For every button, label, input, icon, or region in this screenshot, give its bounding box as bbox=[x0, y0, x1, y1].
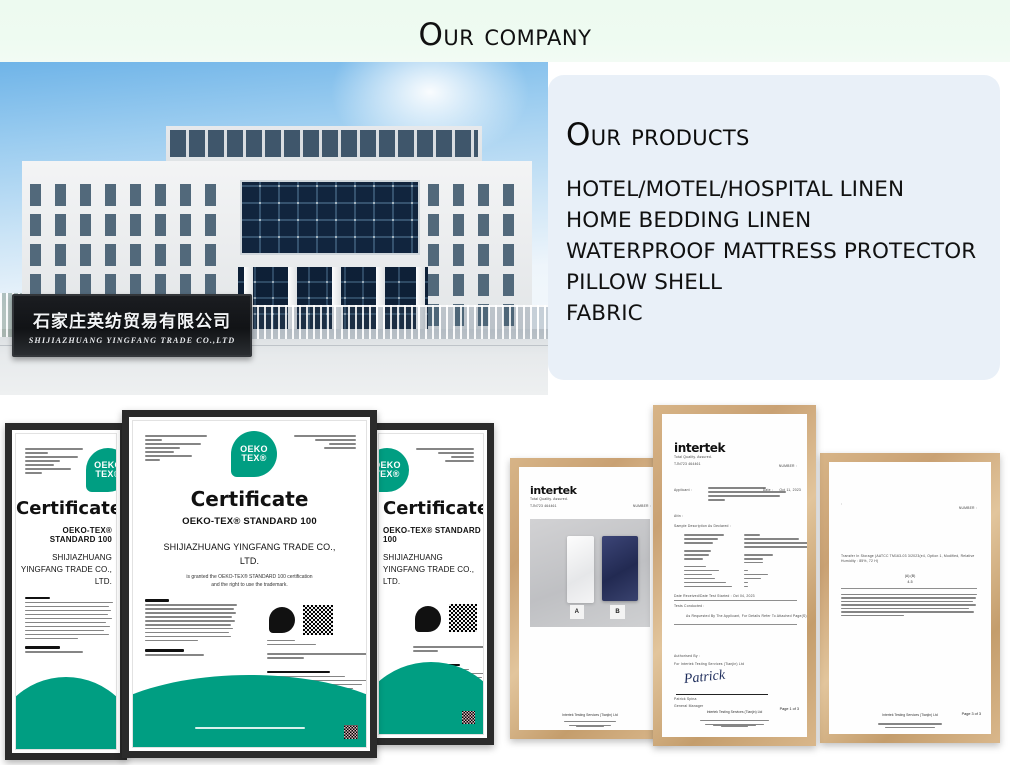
certificate-holder: SHIJIAZHUANG YINGFANG TRADE CO., LTD. bbox=[133, 541, 366, 568]
product-item: FABRIC bbox=[566, 299, 1000, 330]
cert-green-footer bbox=[195, 727, 305, 731]
oeko-tex-logo: OEKO TEX® bbox=[378, 448, 409, 492]
our-products-panel: Our products HOTEL/MOTEL/HOSPITAL LINEN … bbox=[548, 75, 1000, 380]
divider bbox=[841, 588, 977, 589]
intertek-doc-code: TJN723 464461 bbox=[530, 504, 557, 508]
perimeter-fence bbox=[250, 305, 548, 339]
applicant-label: Applicant : bbox=[674, 488, 692, 492]
intertek-number-label: NUMBER : bbox=[959, 506, 977, 510]
certificate-heading: Certificate bbox=[16, 498, 116, 519]
oeko-seal-badge bbox=[269, 607, 295, 633]
fabric-sample-photo: A B bbox=[530, 519, 650, 627]
cert-green-wave bbox=[378, 662, 484, 735]
intertek-results-frame: NUMBER : : Transfer In Storage (AATCC TM… bbox=[820, 453, 1000, 743]
intertek-number-label: NUMBER : bbox=[779, 464, 797, 468]
window-row bbox=[30, 214, 230, 236]
sample-label-a: A bbox=[570, 605, 584, 619]
tests-conducted-label: Tests Conducted : bbox=[674, 604, 705, 608]
intertek-report-frame: intertek Total Quality. Assured. TJN723 … bbox=[653, 405, 816, 746]
intertek-number: NUMBER : bbox=[633, 504, 651, 508]
slide-root: Our company 石家庄英纺贸易有限公司 SH bbox=[0, 0, 1010, 765]
cert-scope-block bbox=[145, 599, 237, 658]
sample-desc-label: Sample Description As Declared : bbox=[674, 524, 731, 528]
date-received: Date Received/Date Test Started : Oct 04… bbox=[674, 594, 755, 598]
cert-institute-block bbox=[294, 435, 356, 451]
signer-role: General Manager bbox=[674, 704, 703, 708]
oeko-certificate-center: OEKO TEX® Certificate OEKO-TEX® STANDARD… bbox=[122, 410, 377, 758]
cert-address-block bbox=[25, 448, 83, 476]
signboard-english-text: SHIJIAZHUANG YINGFANG TRADE CO.,LTD bbox=[29, 336, 235, 345]
doc-marker: : bbox=[841, 502, 842, 506]
certificate-grant-line-1: is granted the OEKO-TEX® STANDARD 100 ce… bbox=[133, 573, 366, 581]
certificate-holder: SHIJIAZHUANG YINGFANG TRADE CO., LTD. bbox=[379, 552, 483, 588]
window-row bbox=[428, 244, 528, 266]
intertek-doc-code: TJN723 464461 bbox=[674, 462, 701, 466]
intertek-tagline: Total Quality. Assured. bbox=[530, 497, 568, 501]
attn-row: Attn : bbox=[674, 514, 683, 518]
cert-scope-block bbox=[25, 597, 113, 655]
test-result-grade: (A):(B) 4-5 bbox=[829, 574, 991, 586]
intertek-footer-address bbox=[700, 720, 770, 727]
certificate-heading: Certificate bbox=[379, 498, 483, 519]
oeko-certificate-left: OEKO TEX® Certificate OEKO-TEX® STANDARD… bbox=[5, 423, 127, 760]
date-label: Date : bbox=[763, 488, 773, 492]
tests-note: As Requested By The Applicant, For Detai… bbox=[686, 614, 807, 618]
window-row bbox=[30, 244, 230, 266]
test-result-line: Transfer In Storage (AATCC TM163-03 3/20… bbox=[841, 554, 977, 564]
company-building-photo: 石家庄英纺贸易有限公司 SHIJIAZHUANG YINGFANG TRADE … bbox=[0, 62, 548, 395]
certificate-standard: OEKO-TEX® STANDARD 100 bbox=[16, 526, 116, 544]
authorised-for: For Intertek Testing Services (Tianjin) … bbox=[674, 662, 744, 666]
certificate-standard: OEKO-TEX® STANDARD 100 bbox=[379, 526, 483, 544]
certificates-gallery: OEKO TEX® Certificate OEKO-TEX® STANDARD… bbox=[0, 395, 1010, 765]
divider bbox=[674, 624, 797, 625]
products-title: Our products bbox=[566, 109, 1000, 153]
cert-green-wave bbox=[132, 675, 367, 748]
intertek-footer-address bbox=[878, 723, 943, 728]
company-signboard: 石家庄英纺贸易有限公司 SHIJIAZHUANG YINGFANG TRADE … bbox=[12, 294, 252, 357]
cert-qr-code bbox=[303, 605, 333, 635]
date-value: Oct 11, 2023 bbox=[779, 488, 801, 492]
certificate-heading: Certificate bbox=[133, 487, 366, 511]
cert-footer-qr bbox=[462, 711, 475, 724]
cert-footer-qr bbox=[344, 725, 358, 739]
product-item: HOME BEDDING LINEN bbox=[566, 206, 1000, 237]
intertek-logo: intertek bbox=[674, 441, 725, 455]
cert-validity-block bbox=[413, 646, 484, 654]
page-header: Our company bbox=[0, 0, 1010, 62]
intertek-footer-address bbox=[564, 721, 615, 727]
intertek-footer: Intertek Testing Services (Tianjin) Ltd bbox=[519, 713, 661, 718]
page-title: Our company bbox=[419, 9, 592, 53]
certificate-holder: SHIJIAZHUANG YINGFANG TRADE CO., LTD. bbox=[16, 552, 116, 588]
certificate-grant-line-2: and the right to use the trademark. bbox=[133, 581, 366, 589]
intertek-tagline: Total Quality. Assured. bbox=[674, 455, 712, 459]
divider bbox=[674, 600, 797, 601]
intertek-logo: intertek bbox=[530, 484, 577, 497]
building-top-floor bbox=[166, 126, 482, 164]
applicant-value bbox=[708, 487, 786, 503]
spec-values bbox=[744, 534, 807, 590]
sample-label-b: B bbox=[610, 605, 624, 619]
top-floor-glazing bbox=[170, 130, 478, 157]
manager-signature: Patrick bbox=[683, 668, 726, 688]
cert-institute-block bbox=[416, 448, 474, 464]
cert-address-block bbox=[145, 435, 207, 463]
oeko-seal-badge bbox=[415, 606, 441, 632]
signature-line bbox=[676, 694, 768, 695]
window-row bbox=[428, 274, 528, 296]
building-atrium-glass bbox=[240, 180, 420, 255]
intertek-sample-photo-frame: intertek Total Quality. Assured. TJN723 … bbox=[510, 458, 670, 739]
badge-caption bbox=[267, 640, 337, 647]
signer-name: Patrick Spina bbox=[674, 697, 697, 701]
page-number: Page 3 of 3 bbox=[962, 712, 981, 716]
product-item: HOTEL/MOTEL/HOSPITAL LINEN bbox=[566, 175, 1000, 206]
window-row bbox=[30, 274, 230, 296]
disclaimer-block bbox=[841, 594, 977, 618]
fabric-sample-a bbox=[567, 536, 593, 603]
authorised-by-label: Authorised By : bbox=[674, 654, 700, 658]
fabric-sample-b bbox=[602, 536, 638, 601]
cert-validity-block bbox=[267, 653, 367, 661]
products-list: HOTEL/MOTEL/HOSPITAL LINEN HOME BEDDING … bbox=[566, 175, 1000, 330]
product-item: WATERPROOF MATTRESS PROTECTOR bbox=[566, 237, 1000, 268]
oeko-tex-logo: OEKO TEX® bbox=[231, 431, 277, 477]
cert-qr-code bbox=[449, 604, 477, 632]
oeko-tex-logo: OEKO TEX® bbox=[86, 448, 117, 492]
certificate-standard: OEKO-TEX® STANDARD 100 bbox=[133, 516, 366, 527]
window-row bbox=[428, 214, 528, 236]
oeko-certificate-right: OEKO TEX® Certificate OEKO-TEX® STANDARD… bbox=[368, 423, 494, 745]
window-row bbox=[30, 184, 230, 206]
spec-labels bbox=[684, 534, 732, 590]
cert-green-wave bbox=[15, 677, 117, 750]
product-item: PILLOW SHELL bbox=[566, 268, 1000, 299]
signboard-chinese-text: 石家庄英纺贸易有限公司 bbox=[33, 307, 231, 332]
window-row bbox=[428, 184, 528, 206]
page-number: Page 1 of 3 bbox=[780, 707, 799, 711]
